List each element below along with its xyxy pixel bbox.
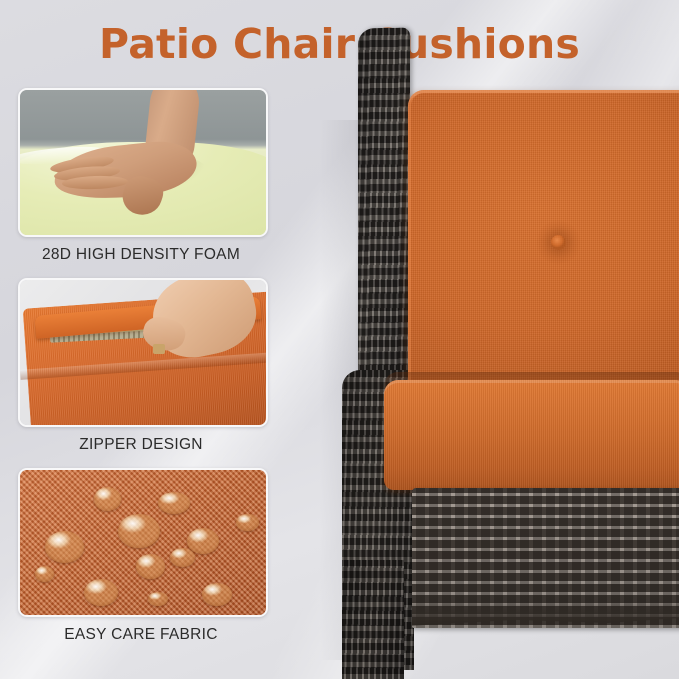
zipper-pull-icon [153,344,165,354]
water-droplet [118,514,160,549]
water-droplet [35,566,55,582]
water-droplet [148,592,168,607]
feature-card-easy-care-fabric: EASY CARE FABRIC [18,468,264,644]
feature-image-high-density-foam [18,88,268,237]
water-droplet [158,492,190,514]
feature-image-easy-care-fabric [18,468,268,617]
water-droplet [202,583,232,606]
infographic-page: Patio Chair Cushions 28D HIGH DENSITY FO… [0,0,679,679]
feature-image-zipper-design [18,278,268,427]
water-droplet [170,548,195,567]
water-droplet [94,487,121,510]
water-droplet [136,554,166,579]
water-droplet [236,514,258,531]
product-photo [300,0,679,679]
front-leg [342,560,404,679]
seat-cushion [384,380,679,490]
feature-caption: EASY CARE FABRIC [18,626,264,644]
feature-caption: ZIPPER DESIGN [18,436,264,454]
feature-caption: 28D HIGH DENSITY FOAM [18,246,264,264]
feature-card-high-density-foam: 28D HIGH DENSITY FOAM [18,88,264,264]
feature-card-zipper-design: ZIPPER DESIGN [18,278,264,454]
tufted-button [551,235,566,250]
water-droplet [45,531,84,563]
